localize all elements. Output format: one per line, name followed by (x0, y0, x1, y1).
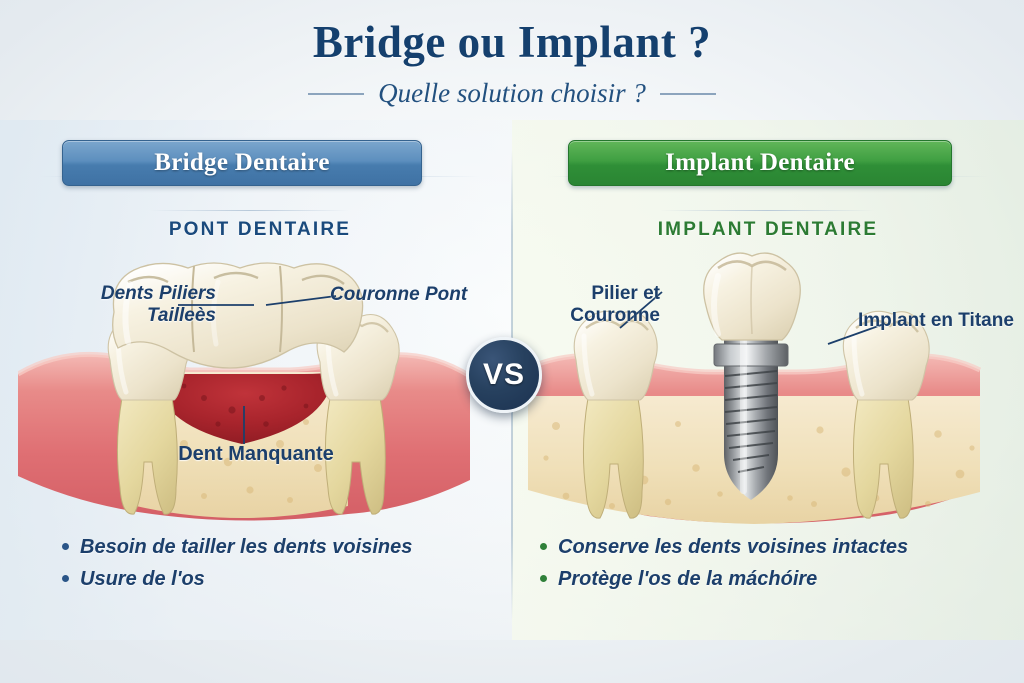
subtitle-rule-left (308, 93, 364, 95)
callout-abutment-crown: Pilier et Couronne (540, 283, 660, 328)
left-kicker-label: PONT DENTAIRE (40, 219, 480, 243)
implant-crown (704, 253, 801, 340)
bullet-dot-icon (62, 575, 69, 582)
callout-titanium-implant: Implant en Titane (858, 310, 1014, 332)
page-subtitle: Quelle solution choisir ? (378, 78, 646, 109)
bullet-dot-icon (540, 575, 547, 582)
bullet-dot-icon (540, 543, 547, 550)
bullet-label: Usure de l'os (80, 568, 205, 591)
bullet-label: Besoin de tailler les dents voisines (80, 536, 412, 559)
bridge-bullet-list: Besoin de tailler les dents voisines Usu… (62, 536, 412, 600)
list-item: Conserve les dents voisines intactes (540, 536, 908, 559)
left-kicker-rule (150, 210, 350, 211)
bullet-dot-icon (62, 543, 69, 550)
implant-header-pill: Implant Dentaire (568, 140, 952, 186)
list-item: Besoin de tailler les dents voisines (62, 536, 412, 559)
subtitle-rule-right (660, 93, 716, 95)
subtitle-group: Quelle solution choisir ? (0, 78, 1024, 109)
abutment-collar (714, 344, 788, 366)
infographic-canvas: Bridge ou Implant ? Quelle solution choi… (0, 0, 1024, 683)
right-kicker-rule (660, 210, 875, 211)
callout-abutment-teeth: Dents Piliers Tailleès (36, 283, 216, 328)
versus-badge: VS (466, 337, 542, 413)
list-item: Usure de l'os (62, 568, 412, 591)
list-item: Protège l'os de la máchóire (540, 568, 908, 591)
bridge-header-pill: Bridge Dentaire (62, 140, 422, 186)
bullet-label: Conserve les dents voisines intactes (558, 536, 908, 559)
callout-missing-tooth: Dent Manquante (176, 443, 336, 467)
page-title: Bridge ou Implant ? (0, 16, 1024, 68)
callout-bridge-crown: Couronne Pont (330, 284, 467, 306)
right-kicker-label: IMPLANT DENTAIRE (548, 219, 988, 243)
bullet-label: Protège l'os de la máchóire (558, 568, 817, 591)
implant-bullet-list: Conserve les dents voisines intactes Pro… (540, 536, 908, 600)
